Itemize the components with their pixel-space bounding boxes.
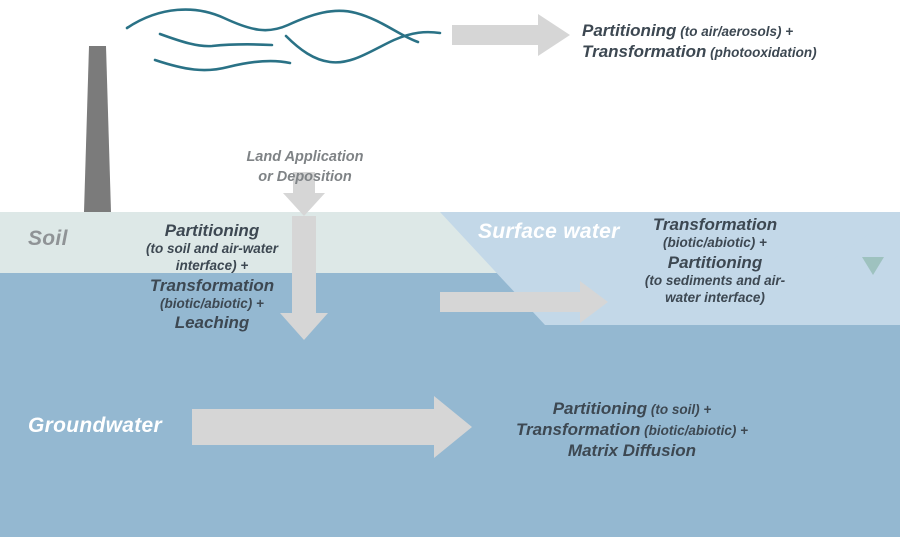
process-gw-line2-big: Transformation	[516, 420, 640, 439]
process-sw-line-3: Partitioning	[614, 252, 816, 273]
process-sw-line-5: water interface)	[614, 290, 816, 307]
process-air-line2-sm: (photooxidation)	[706, 45, 816, 60]
zone-label-surface-water: Surface water	[478, 220, 620, 244]
process-text-surface-water: Transformation (biotic/abiotic) + Partit…	[614, 214, 816, 306]
emission-plume-icon	[127, 10, 440, 71]
diagram-canvas: Partitioning (to air/aerosols) + Transfo…	[0, 0, 900, 537]
process-text-soil: Partitioning (to soil and air-water inte…	[116, 220, 308, 333]
process-soil-line-5: (biotic/abiotic) +	[116, 296, 308, 313]
process-air-line-2: Transformation (photooxidation)	[582, 41, 882, 62]
process-text-air: Partitioning (to air/aerosols) + Transfo…	[582, 20, 882, 62]
caption-land-application-line-2: or Deposition	[224, 168, 386, 188]
zone-label-groundwater: Groundwater	[28, 414, 162, 438]
caption-land-application: Land Application or Deposition	[224, 148, 386, 187]
process-sw-line-2: (biotic/abiotic) +	[614, 235, 816, 252]
arrow-right-icon-air	[452, 14, 570, 56]
process-gw-line1-big: Partitioning	[553, 399, 647, 418]
process-text-groundwater: Partitioning (to soil) + Transformation …	[482, 398, 782, 461]
process-soil-line-1: Partitioning	[116, 220, 308, 241]
zone-label-soil: Soil	[28, 227, 68, 251]
process-soil-line-4: Transformation	[116, 275, 308, 296]
process-soil-line-3: interface) +	[116, 258, 308, 275]
process-soil-line-2: (to soil and air-water	[116, 241, 308, 258]
process-gw-line2-sm: (biotic/abiotic) +	[640, 423, 748, 438]
process-air-line1-sm: (to air/aerosols) +	[676, 24, 793, 39]
process-sw-line-4: (to sediments and air-	[614, 273, 816, 290]
process-sw-line-1: Transformation	[614, 214, 816, 235]
process-gw-line-1: Partitioning (to soil) +	[482, 398, 782, 419]
process-soil-line-6: Leaching	[116, 312, 308, 333]
caption-land-application-line-1: Land Application	[224, 148, 386, 168]
process-gw-line-3: Matrix Diffusion	[482, 440, 782, 461]
smokestack-icon	[84, 46, 111, 212]
process-air-line-1: Partitioning (to air/aerosols) +	[582, 20, 882, 41]
process-air-line1-big: Partitioning	[582, 21, 676, 40]
process-gw-line1-sm: (to soil) +	[647, 402, 711, 417]
process-air-line2-big: Transformation	[582, 42, 706, 61]
process-gw-line-2: Transformation (biotic/abiotic) +	[482, 419, 782, 440]
